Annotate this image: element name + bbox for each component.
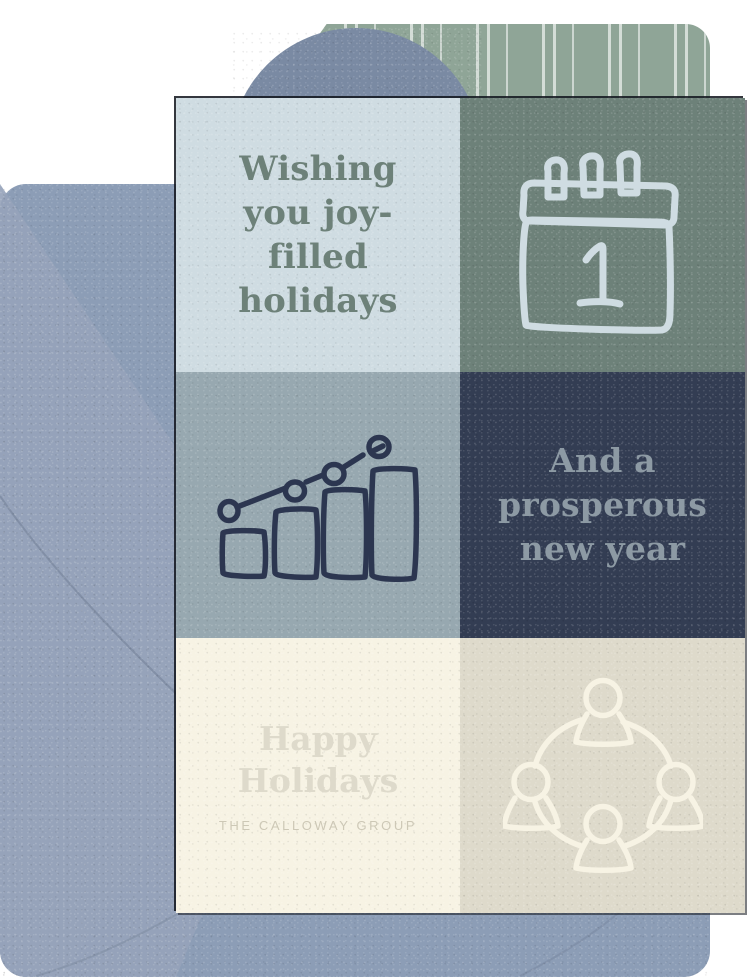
signoff-headline: Happy Holidays (219, 718, 417, 802)
greeting-headline: Wishing you joy-filled holidays (176, 147, 460, 324)
signoff-line-2: Holidays (238, 761, 398, 800)
person-top-head (586, 680, 620, 715)
signoff-block: Happy Holidays THE CALLOWAY GROUP (205, 718, 431, 833)
panel-greeting: Wishing you joy-filled holidays (176, 98, 460, 372)
person-left-head (514, 764, 548, 799)
trend-segment-3 (344, 455, 363, 467)
person-top-body (576, 714, 631, 744)
bar-1 (222, 531, 265, 577)
people-circle-icon (503, 676, 703, 876)
signoff-line-1: Happy (259, 719, 377, 758)
greeting-line-3: holidays (238, 281, 398, 321)
calendar-ring-2 (582, 156, 600, 195)
person-right-head (659, 764, 693, 799)
calendar-icon (508, 135, 698, 335)
trend-marker-1 (220, 502, 238, 521)
signature-text: THE CALLOWAY GROUP (219, 818, 417, 833)
greeting-line-2: you joy-filled (243, 193, 392, 277)
greeting-card[interactable]: Wishing you joy-filled holidays (176, 98, 745, 913)
trend-segment-1 (237, 488, 286, 507)
greeting-line-1: Wishing (239, 149, 396, 189)
trend-marker-3 (324, 465, 344, 484)
bar-2 (274, 509, 317, 577)
scene: Wishing you joy-filled holidays (0, 0, 749, 977)
panel-calendar (460, 98, 745, 372)
person-bottom-head (586, 806, 620, 841)
panel-team (460, 638, 745, 913)
calendar-body (522, 220, 670, 330)
person-bottom-body (576, 840, 631, 870)
prosperous-line-1: And a (549, 441, 656, 480)
prosperous-headline: And a prosperous new year (476, 439, 729, 572)
bar-3 (323, 490, 366, 578)
panel-growth-chart (176, 372, 460, 638)
trend-marker-2 (285, 482, 304, 500)
bar-chart-growth-icon (211, 405, 426, 605)
calendar-ring-1 (547, 160, 564, 197)
prosperous-line-3: new year (520, 529, 685, 568)
panel-signoff: Happy Holidays THE CALLOWAY GROUP (176, 638, 460, 913)
panel-prosperous: And a prosperous new year (460, 372, 745, 638)
bar-4 (371, 469, 416, 580)
calendar-day-stroke-2 (580, 302, 620, 304)
prosperous-line-2: prosperous (498, 485, 707, 524)
calendar-day-stroke-1 (586, 246, 603, 301)
trend-segment-2 (306, 475, 323, 482)
